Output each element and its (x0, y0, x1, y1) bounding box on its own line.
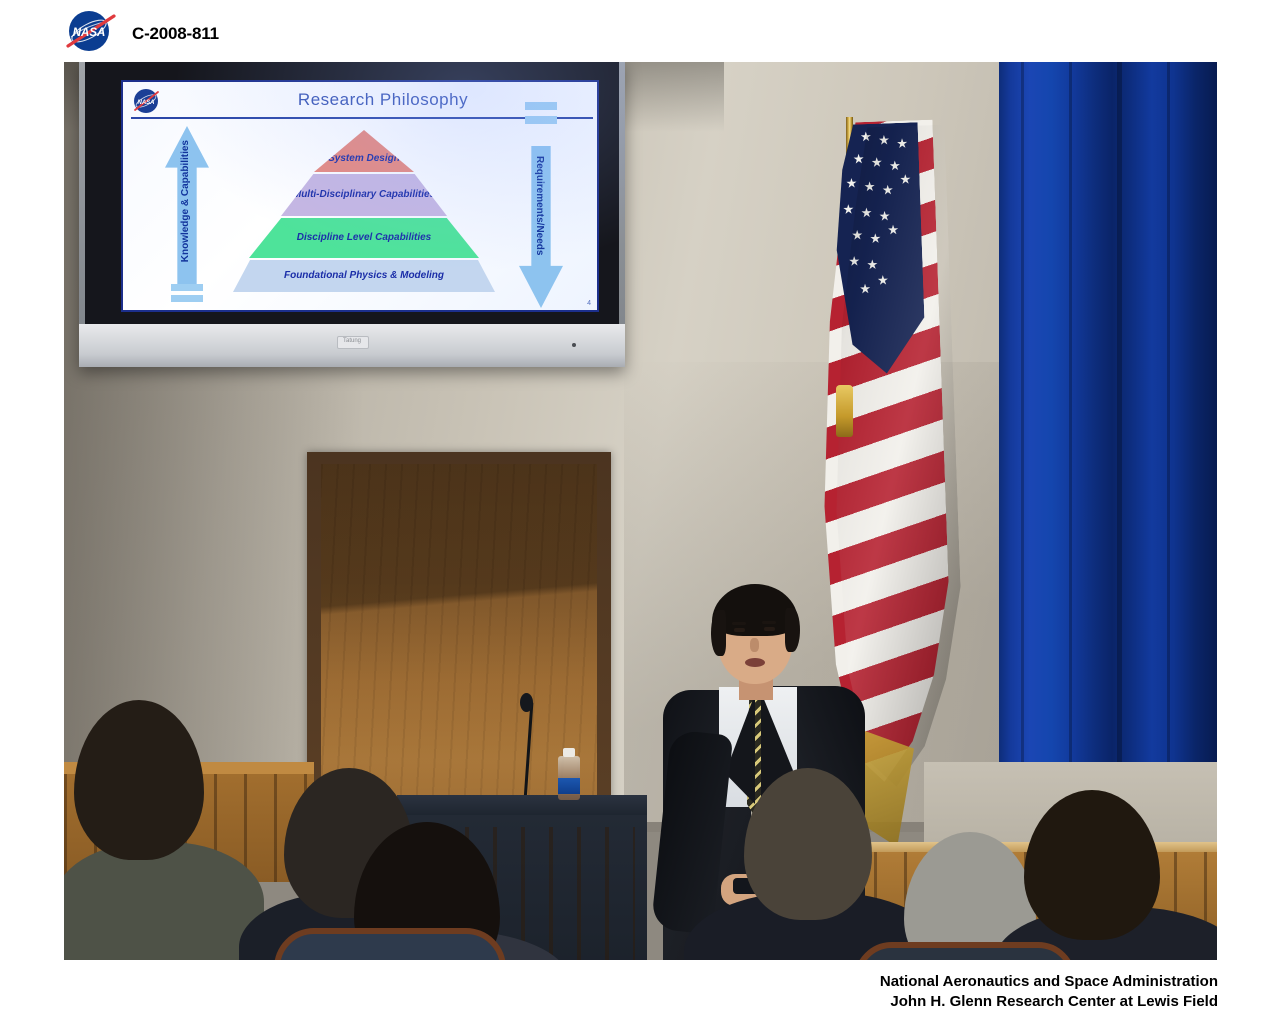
svg-text:NASA: NASA (137, 100, 154, 106)
agency-footer: National Aeronautics and Space Administr… (880, 972, 1218, 1013)
nasa-meatball-icon: NASA (64, 9, 120, 54)
svg-text:NASA: NASA (73, 27, 106, 39)
slide-title: Research Philosophy (193, 90, 573, 110)
footer-line-2: John H. Glenn Research Center at Lewis F… (880, 992, 1218, 1012)
pyramid-level-label: Multi-Disciplinary Capabilities (293, 190, 435, 201)
arrow-left-label: Knowledge & Capabilities (180, 140, 191, 262)
footer-line-1: National Aeronautics and Space Administr… (880, 972, 1218, 992)
pyramid-level-discipline: Discipline Level Capabilities (249, 218, 479, 258)
nasa-meatball-icon: NASA (133, 88, 160, 114)
page-header: NASA C-2008-811 (0, 0, 1280, 62)
pyramid-level-multi-disciplinary: Multi-Disciplinary Capabilities (281, 174, 447, 216)
pyramid-level-foundational: Foundational Physics & Modeling (233, 260, 495, 292)
eye-left (734, 628, 745, 632)
display-panel: NASA Research Philosophy Knowledge & Cap… (85, 62, 619, 324)
water-bottle (558, 748, 580, 800)
photograph: ★ ★ ★ ★ ★ ★ ★ ★ ★ ★ ★ ★ ★ ★ ★ ★ ★ ★ ★ ★ (64, 62, 1217, 960)
eye-right (764, 627, 775, 631)
display-power-led (572, 343, 576, 347)
display-brand-text: Tatung (339, 337, 365, 346)
microphone-head (520, 693, 533, 712)
knowledge-capabilities-arrow: Knowledge & Capabilities (165, 126, 209, 304)
presentation-slide: NASA Research Philosophy Knowledge & Cap… (121, 80, 599, 312)
chair-back (274, 928, 506, 960)
pyramid-level-label: System Design (328, 154, 400, 165)
audience-member-shoulders (64, 842, 264, 960)
blue-stage-curtain (999, 62, 1217, 852)
photo-id-label: C-2008-811 (132, 24, 219, 44)
pyramid-level-label: Foundational Physics & Modeling (284, 271, 444, 282)
research-philosophy-pyramid: System Design Multi-Disciplinary Capabil… (233, 130, 495, 300)
requirements-needs-arrow: Requirements/Needs (519, 100, 563, 310)
pyramid-level-label: Discipline Level Capabilities (297, 233, 432, 244)
bottle-label (558, 778, 580, 794)
arrow-right-label: Requirements/Needs (534, 156, 545, 255)
chair-back (854, 942, 1076, 960)
hair-side-left (711, 610, 726, 656)
pyramid-level-system-design: System Design (314, 130, 414, 172)
eyebrow-right (762, 621, 776, 624)
eyebrow-left (732, 622, 746, 625)
plasma-display-screen: NASA Research Philosophy Knowledge & Cap… (79, 62, 625, 367)
hair-side-right (785, 608, 800, 652)
nose (750, 638, 759, 652)
flag-tassel (836, 385, 853, 437)
mouth (745, 658, 765, 667)
lectern-top (397, 795, 647, 817)
slide-page-number: 4 (587, 300, 591, 307)
bottle-cap (563, 748, 575, 757)
